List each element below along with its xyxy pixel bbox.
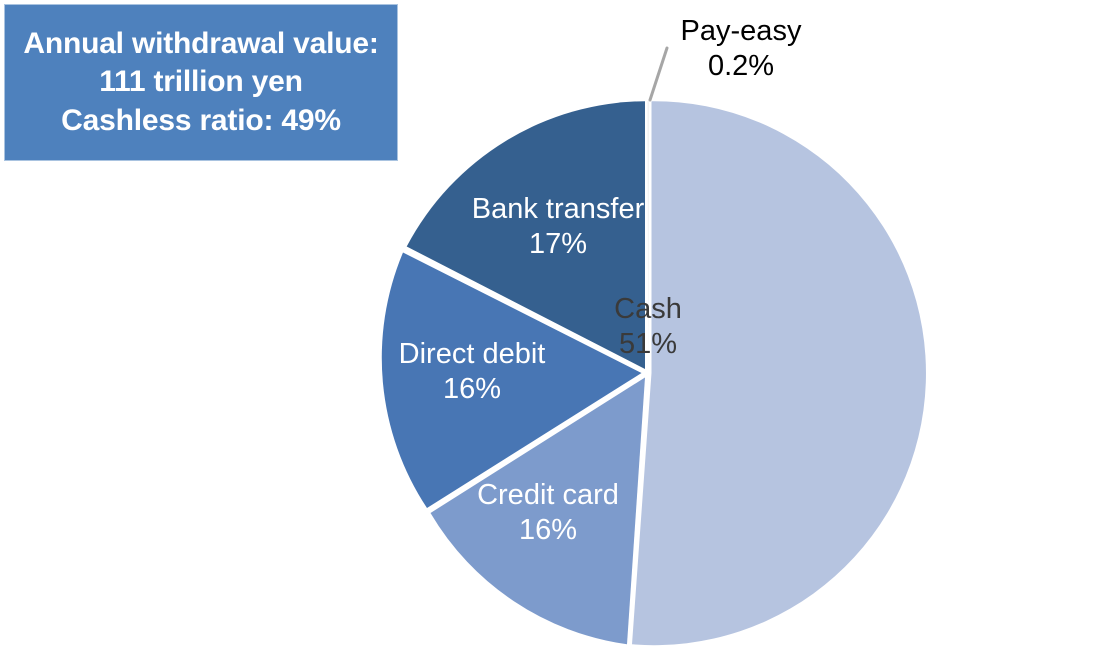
pie-chart-figure: Annual withdrawal value: 111 trillion ye… [0,0,1120,668]
pay-easy-leader-line [650,48,667,100]
pie-graphic [0,0,1120,668]
pie-slice-pay-easy[interactable] [647,101,649,373]
pie-slice-cash[interactable] [632,101,926,645]
